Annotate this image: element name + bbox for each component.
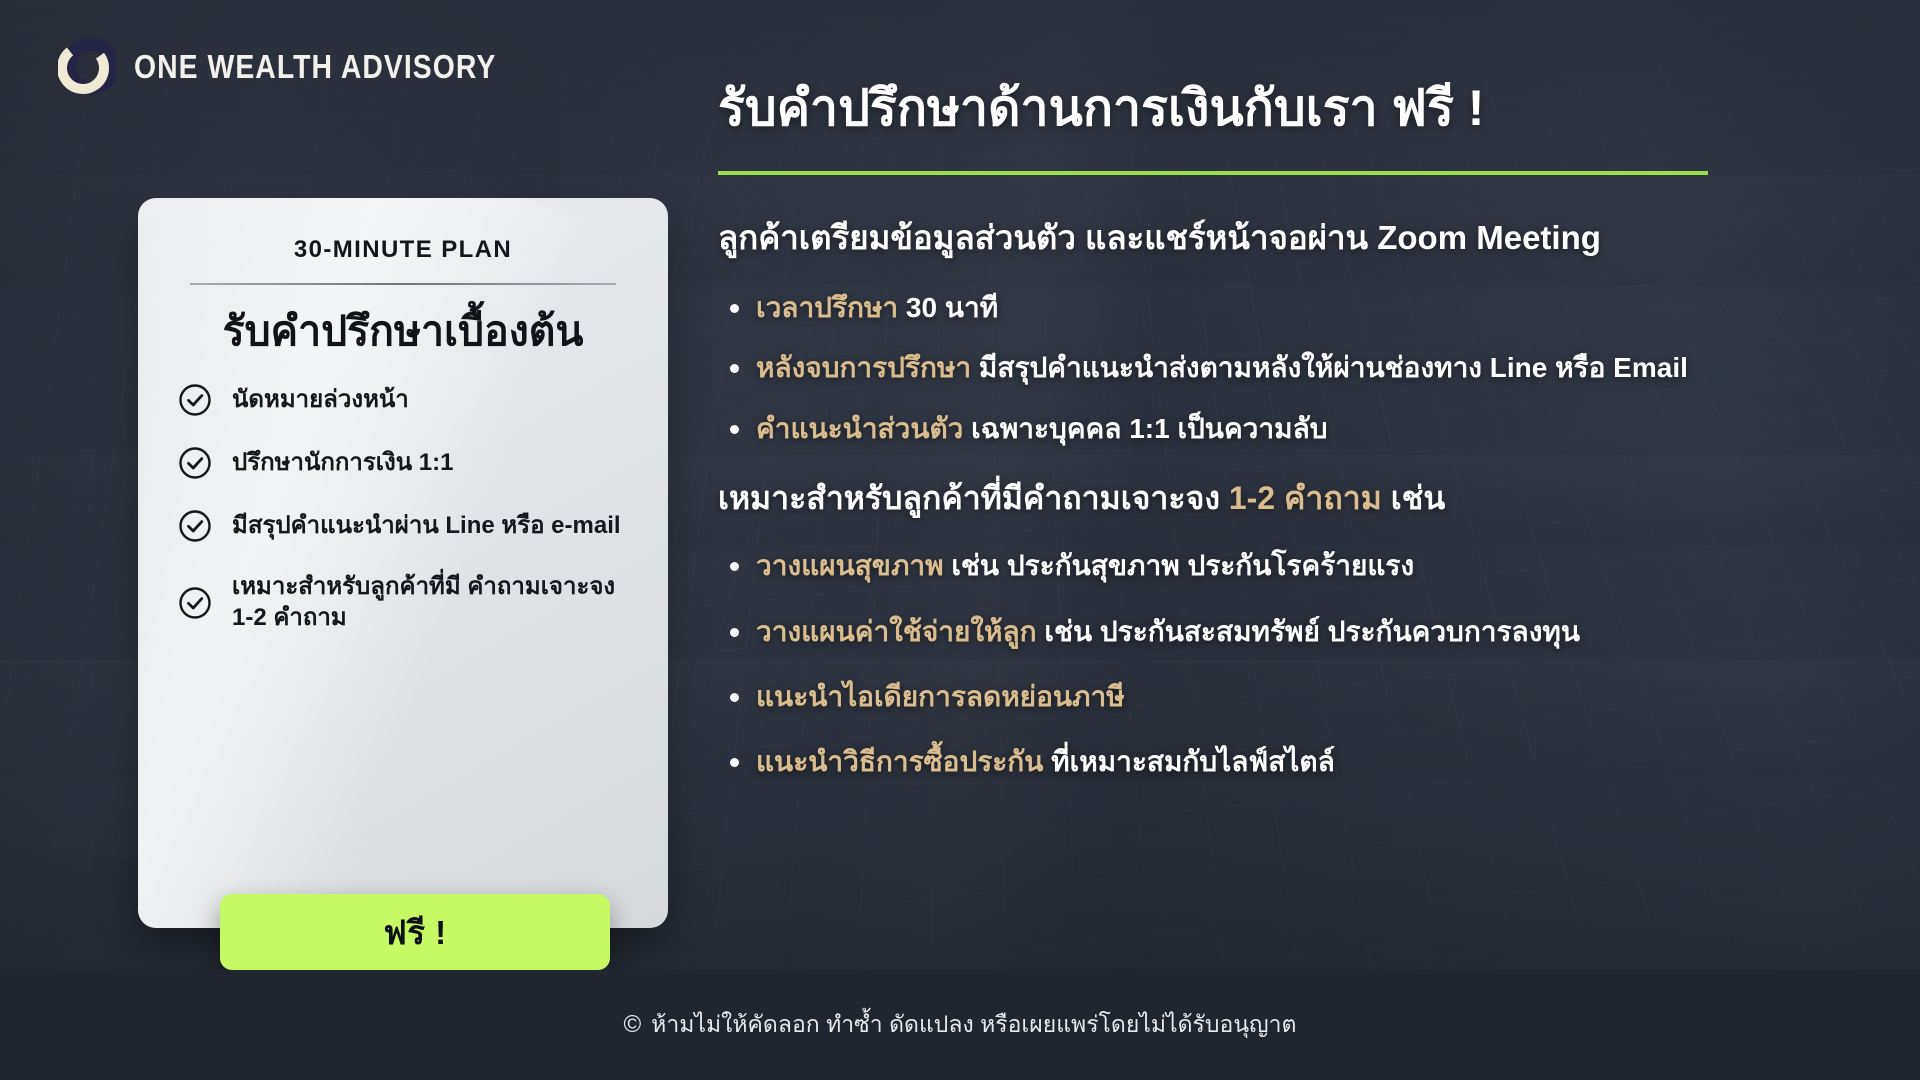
list-item: นัดหมายล่วงหน้า [178,383,628,417]
subheading-pre: เหมาะสำหรับลูกค้าที่มีคำถามเจาะจง [718,480,1229,516]
bullet-highlight: แนะนำไอเดียการลดหย่อนภาษี [756,681,1125,712]
accent-divider [718,171,1708,175]
page-title: รับคำปรึกษาด้านการเงินกับเรา ฟรี ! [718,78,1858,139]
list-item: วางแผนค่าใช้จ่ายให้ลูก เช่น ประกันสะสมทร… [718,614,1858,650]
list-item: แนะนำวิธีการซื้อประกัน ที่เหมาะสมกับไลฟ์… [718,744,1858,780]
brand-name: ONE WEALTH ADVISORY [134,48,496,86]
card-eyebrow: 30-MINUTE PLAN [178,236,628,264]
subheading-post: เช่น [1382,480,1445,516]
subheading-highlight: 1-2 คำถาม [1229,480,1382,516]
free-cta-label: ฟรี ! [383,906,446,959]
list-item: แนะนำไอเดียการลดหย่อนภาษี [718,679,1858,715]
brand-lockup: ONE WEALTH ADVISORY [58,36,555,98]
list-item-label: เหมาะสำหรับลูกค้าที่มี คำถามเจาะจง 1-2 ค… [232,572,628,633]
slide-canvas: ONE WEALTH ADVISORY 30-MINUTE PLAN รับคำ… [0,0,1920,1080]
card-title: รับคำปรึกษาเบื้องต้น [178,307,628,355]
card-checklist: นัดหมายล่วงหน้า ปรึกษานักการเงิน 1:1 [178,383,628,633]
list-item: คำแนะนำส่วนตัว เฉพาะบุคคล 1:1 เป็นความลั… [718,411,1858,447]
list-item: เวลาปรึกษา 30 นาที [718,290,1858,326]
bullet-highlight: หลังจบการปรึกษา [756,352,971,383]
bullet-rest: เช่น ประกันสุขภาพ ประกันโรคร้ายแรง [944,550,1415,581]
list-item: เหมาะสำหรับลูกค้าที่มี คำถามเจาะจง 1-2 ค… [178,572,628,633]
footer-text: ห้ามไม่ให้คัดลอก ทำซ้ำ ดัดแปลง หรือเผยแพ… [651,1007,1296,1043]
section-subheading: ลูกค้าเตรียมข้อมูลส่วนตัว และแชร์หน้าจอผ… [718,211,1858,264]
bullet-list-secondary: วางแผนสุขภาพ เช่น ประกันสุขภาพ ประกันโรค… [718,548,1858,781]
bullet-rest: 30 นาที [898,292,998,323]
bullet-list-primary: เวลาปรึกษา 30 นาที หลังจบการปรึกษา มีสรุ… [718,290,1858,447]
list-item-label: นัดหมายล่วงหน้า [232,385,409,416]
check-circle-icon [178,509,212,543]
section-subheading-secondary: เหมาะสำหรับลูกค้าที่มีคำถามเจาะจง 1-2 คำ… [718,473,1858,524]
plan-card: 30-MINUTE PLAN รับคำปรึกษาเบื้องต้น นัดห… [138,198,668,928]
bullet-highlight: แนะนำวิธีการซื้อประกัน [756,746,1043,777]
check-circle-icon [178,383,212,417]
copyright-icon: © [623,1013,641,1037]
list-item-label: ปรึกษานักการเงิน 1:1 [232,448,453,479]
list-item: ปรึกษานักการเงิน 1:1 [178,446,628,480]
bullet-highlight: วางแผนสุขภาพ [756,550,944,581]
bullet-highlight: วางแผนค่าใช้จ่ายให้ลูก [756,616,1037,647]
list-item: หลังจบการปรึกษา มีสรุปคำแนะนำส่งตามหลังใ… [718,350,1858,386]
list-item-label: มีสรุปคำแนะนำผ่าน Line หรือ e-mail [232,511,621,542]
bullet-rest: ที่เหมาะสมกับไลฟ์สไตล์ [1043,746,1334,777]
bullet-rest: เฉพาะบุคคล 1:1 เป็นความลับ [963,413,1327,444]
bullet-highlight: เวลาปรึกษา [756,292,898,323]
card-divider [190,283,616,285]
list-item: วางแผนสุขภาพ เช่น ประกันสุขภาพ ประกันโรค… [718,548,1858,584]
free-cta-button[interactable]: ฟรี ! [220,894,610,970]
footer-bar: © ห้ามไม่ให้คัดลอก ทำซ้ำ ดัดแปลง หรือเผย… [0,970,1920,1080]
bullet-highlight: คำแนะนำส่วนตัว [756,413,963,444]
bullet-rest: เช่น ประกันสะสมทรัพย์ ประกันควบการลงทุน [1037,616,1580,647]
bullet-rest: มีสรุปคำแนะนำส่งตามหลังให้ผ่านช่องทาง Li… [971,352,1688,383]
content-column: รับคำปรึกษาด้านการเงินกับเรา ฟรี ! ลูกค้… [718,78,1858,810]
list-item: มีสรุปคำแนะนำผ่าน Line หรือ e-mail [178,509,628,543]
double-ring-o-logo-icon [58,36,116,98]
check-circle-icon [178,446,212,480]
check-circle-icon [178,586,212,620]
